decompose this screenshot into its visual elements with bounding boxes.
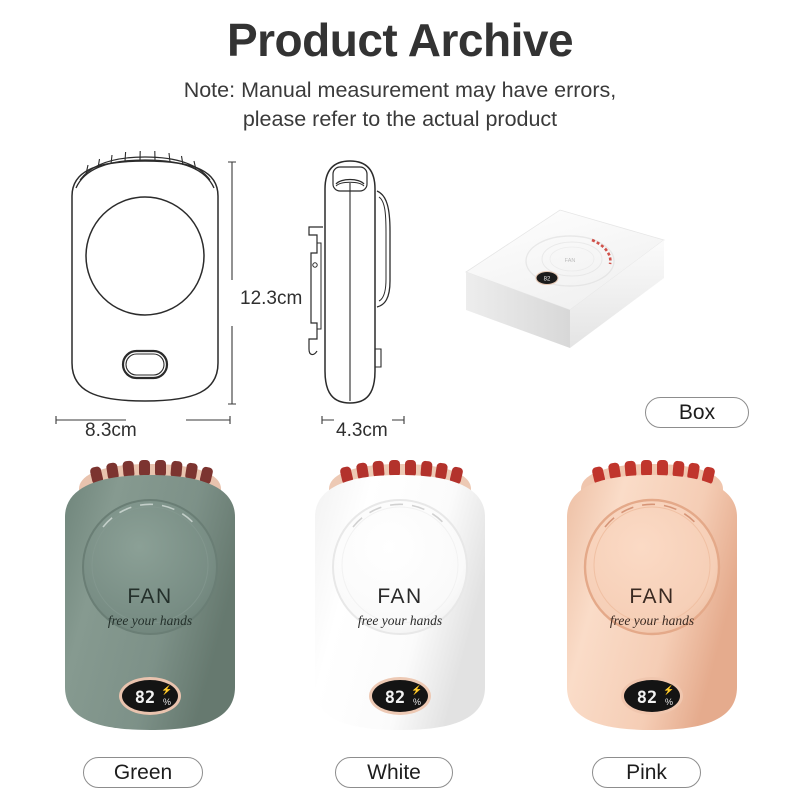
battery-display: 82 ⚡ %: [621, 677, 683, 715]
battery-display: 82 ⚡ %: [369, 677, 431, 715]
header: Product Archive Note: Manual measurement…: [0, 0, 800, 134]
brand-text: FAN: [377, 585, 422, 608]
product-pink: FAN free your hands 82 ⚡ %: [557, 455, 747, 737]
svg-text:⚡: ⚡: [161, 684, 172, 696]
note-text: Note: Manual measurement may have errors…: [0, 76, 800, 134]
dimension-height: 12.3cm: [240, 288, 302, 310]
svg-text:⚡: ⚡: [411, 684, 422, 696]
svg-text:82: 82: [385, 688, 405, 708]
svg-text:%: %: [413, 697, 421, 707]
tagline-text: free your hands: [108, 613, 192, 628]
page-title: Product Archive: [0, 16, 800, 64]
dimension-lines: [0, 148, 420, 448]
product-color-variants: FAN free your hands 82 ⚡ %: [0, 455, 800, 745]
svg-text:FAN: FAN: [565, 258, 576, 264]
svg-text:%: %: [665, 697, 673, 707]
product-white: FAN free your hands 82 ⚡ %: [305, 455, 495, 737]
svg-text:82: 82: [544, 277, 551, 283]
battery-display: 82 ⚡ %: [119, 677, 181, 715]
svg-text:⚡: ⚡: [663, 684, 674, 696]
product-green: FAN free your hands 82 ⚡ %: [55, 455, 245, 737]
svg-text:%: %: [163, 697, 171, 707]
label-green: Green: [83, 757, 203, 788]
tagline-text: free your hands: [610, 613, 694, 628]
label-pink: Pink: [592, 757, 701, 788]
tagline-text: free your hands: [358, 613, 442, 628]
svg-text:82: 82: [637, 688, 657, 708]
dimension-depth: 4.3cm: [336, 420, 388, 442]
note-line-2: please refer to the actual product: [0, 105, 800, 134]
svg-text:82: 82: [135, 688, 155, 708]
product-box-image: 82 FAN: [452, 198, 672, 363]
brand-text: FAN: [127, 585, 172, 608]
note-line-1: Note: Manual measurement may have errors…: [0, 76, 800, 105]
brand-text: FAN: [629, 585, 674, 608]
dimension-width: 8.3cm: [85, 420, 137, 442]
label-white: White: [335, 757, 453, 788]
label-box: Box: [645, 397, 749, 428]
